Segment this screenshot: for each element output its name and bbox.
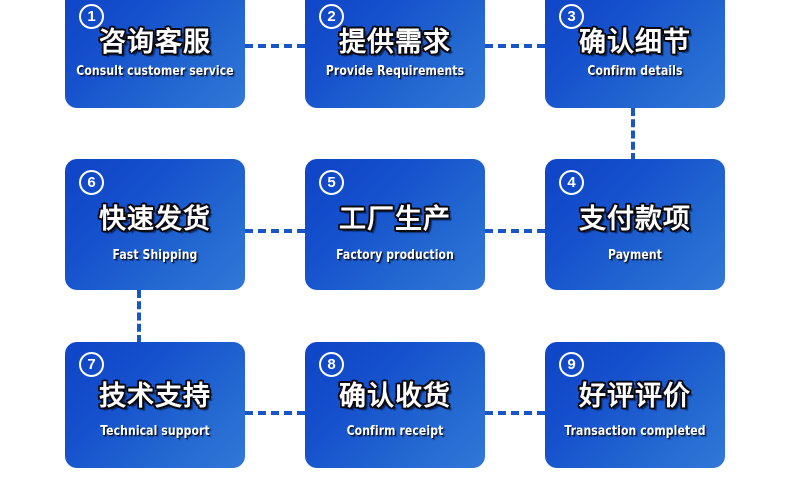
step-title-cn-9: 好评评价 (545, 374, 725, 413)
step-title-en-5: Factory production (311, 248, 478, 263)
step-title-cn-5: 工厂生产 (305, 197, 485, 236)
connector-step8-step9 (485, 411, 545, 415)
step-title-en-4: Payment (551, 248, 718, 263)
step-card-6[interactable]: 6 快速发货 Fast Shipping (65, 159, 245, 290)
step-title-cn-3: 确认细节 (545, 20, 725, 59)
step-title-cn-6: 快速发货 (65, 197, 245, 236)
connector-step5-step6 (245, 229, 305, 233)
step-title-en-9: Transaction completed (551, 424, 718, 439)
step-number-badge-6: 6 (79, 170, 104, 195)
step-card-4[interactable]: 4 支付款项 Payment (545, 159, 725, 290)
step-number-badge-4: 4 (559, 170, 584, 195)
step-card-3[interactable]: 3 确认细节 Confirm details (545, 0, 725, 108)
step-title-cn-1: 咨询客服 (65, 20, 245, 59)
connector-step3-step4 (631, 108, 635, 161)
step-title-en-2: Provide Requirements (311, 64, 478, 79)
process-flow-diagram: 1 咨询客服 Consult customer service 2 提供需求 P… (0, 0, 790, 500)
step-card-7[interactable]: 7 技术支持 Technical support (65, 342, 245, 468)
connector-step6-step7 (137, 290, 141, 343)
step-title-en-1: Consult customer service (71, 64, 238, 79)
connector-step4-step5 (485, 229, 545, 233)
step-card-5[interactable]: 5 工厂生产 Factory production (305, 159, 485, 290)
step-title-cn-2: 提供需求 (305, 20, 485, 59)
connector-step7-step8 (245, 411, 305, 415)
step-title-cn-4: 支付款项 (545, 197, 725, 236)
connector-step2-step3 (485, 44, 545, 48)
step-title-en-7: Technical support (71, 424, 238, 439)
step-title-en-6: Fast Shipping (71, 248, 238, 263)
step-title-en-8: Confirm receipt (311, 424, 478, 439)
step-card-9[interactable]: 9 好评评价 Transaction completed (545, 342, 725, 468)
connector-step1-step2 (245, 44, 305, 48)
step-title-cn-8: 确认收货 (305, 374, 485, 413)
step-number-badge-5: 5 (319, 170, 344, 195)
step-title-en-3: Confirm details (551, 64, 718, 79)
step-card-1[interactable]: 1 咨询客服 Consult customer service (65, 0, 245, 108)
step-title-cn-7: 技术支持 (65, 374, 245, 413)
step-card-8[interactable]: 8 确认收货 Confirm receipt (305, 342, 485, 468)
step-card-2[interactable]: 2 提供需求 Provide Requirements (305, 0, 485, 108)
